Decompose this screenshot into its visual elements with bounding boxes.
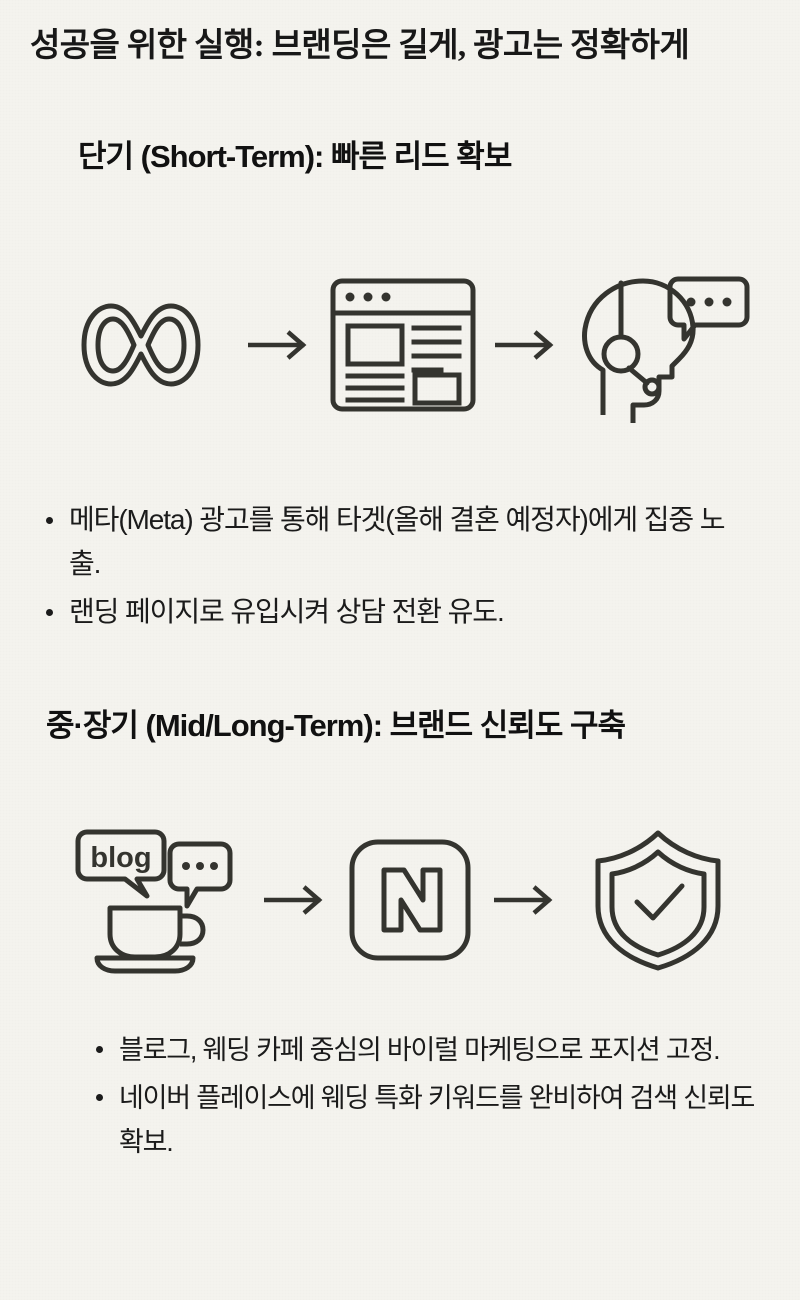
list-item: 블로그, 웨딩 카페 중심의 바이럴 마케팅으로 포지션 고정.	[92, 1028, 782, 1072]
arrow-right-icon	[490, 328, 562, 362]
section-heading-mid-long-term: 중·장기 (Mid/Long-Term): 브랜드 신뢰도 구축	[46, 700, 625, 745]
blog-cafe-coffee-icon: blog	[50, 826, 255, 974]
shield-check-icon	[565, 828, 750, 972]
headset-consultation-icon	[562, 265, 762, 425]
meta-infinity-icon	[38, 290, 243, 400]
section-heading-short-term: 단기 (Short-Term): 빠른 리드 확보	[78, 131, 511, 176]
arrow-right-icon	[485, 883, 565, 917]
list-item: 네이버 플레이스에 웨딩 특화 키워드를 완비하여 검색 신뢰도 확보.	[92, 1076, 782, 1164]
naver-letter-n	[384, 870, 440, 930]
mid-long-term-bullet-list: 블로그, 웨딩 카페 중심의 바이럴 마케팅으로 포지션 고정. 네이버 플레이…	[92, 1028, 782, 1168]
poster-page: 성공을 위한 실행: 브랜딩은 길게, 광고는 정확하게 단기 (Short-T…	[0, 0, 800, 1300]
list-item: 메타(Meta) 광고를 통해 타겟(올해 결혼 예정자)에게 집중 노출.	[42, 498, 742, 586]
page-title: 성공을 위한 실행: 브랜딩은 길게, 광고는 정확하게	[30, 18, 689, 66]
landing-page-browser-icon	[315, 277, 490, 413]
short-term-icon-flow	[0, 260, 800, 430]
short-term-bullet-list: 메타(Meta) 광고를 통해 타겟(올해 결혼 예정자)에게 집중 노출. 랜…	[42, 498, 742, 638]
list-item: 랜딩 페이지로 유입시켜 상담 전환 유도.	[42, 590, 742, 634]
blog-bubble-label: blog	[90, 842, 151, 874]
arrow-right-icon	[255, 883, 335, 917]
mid-long-term-icon-flow: blog	[0, 820, 800, 980]
arrow-right-icon	[243, 328, 315, 362]
naver-n-icon	[335, 838, 485, 962]
